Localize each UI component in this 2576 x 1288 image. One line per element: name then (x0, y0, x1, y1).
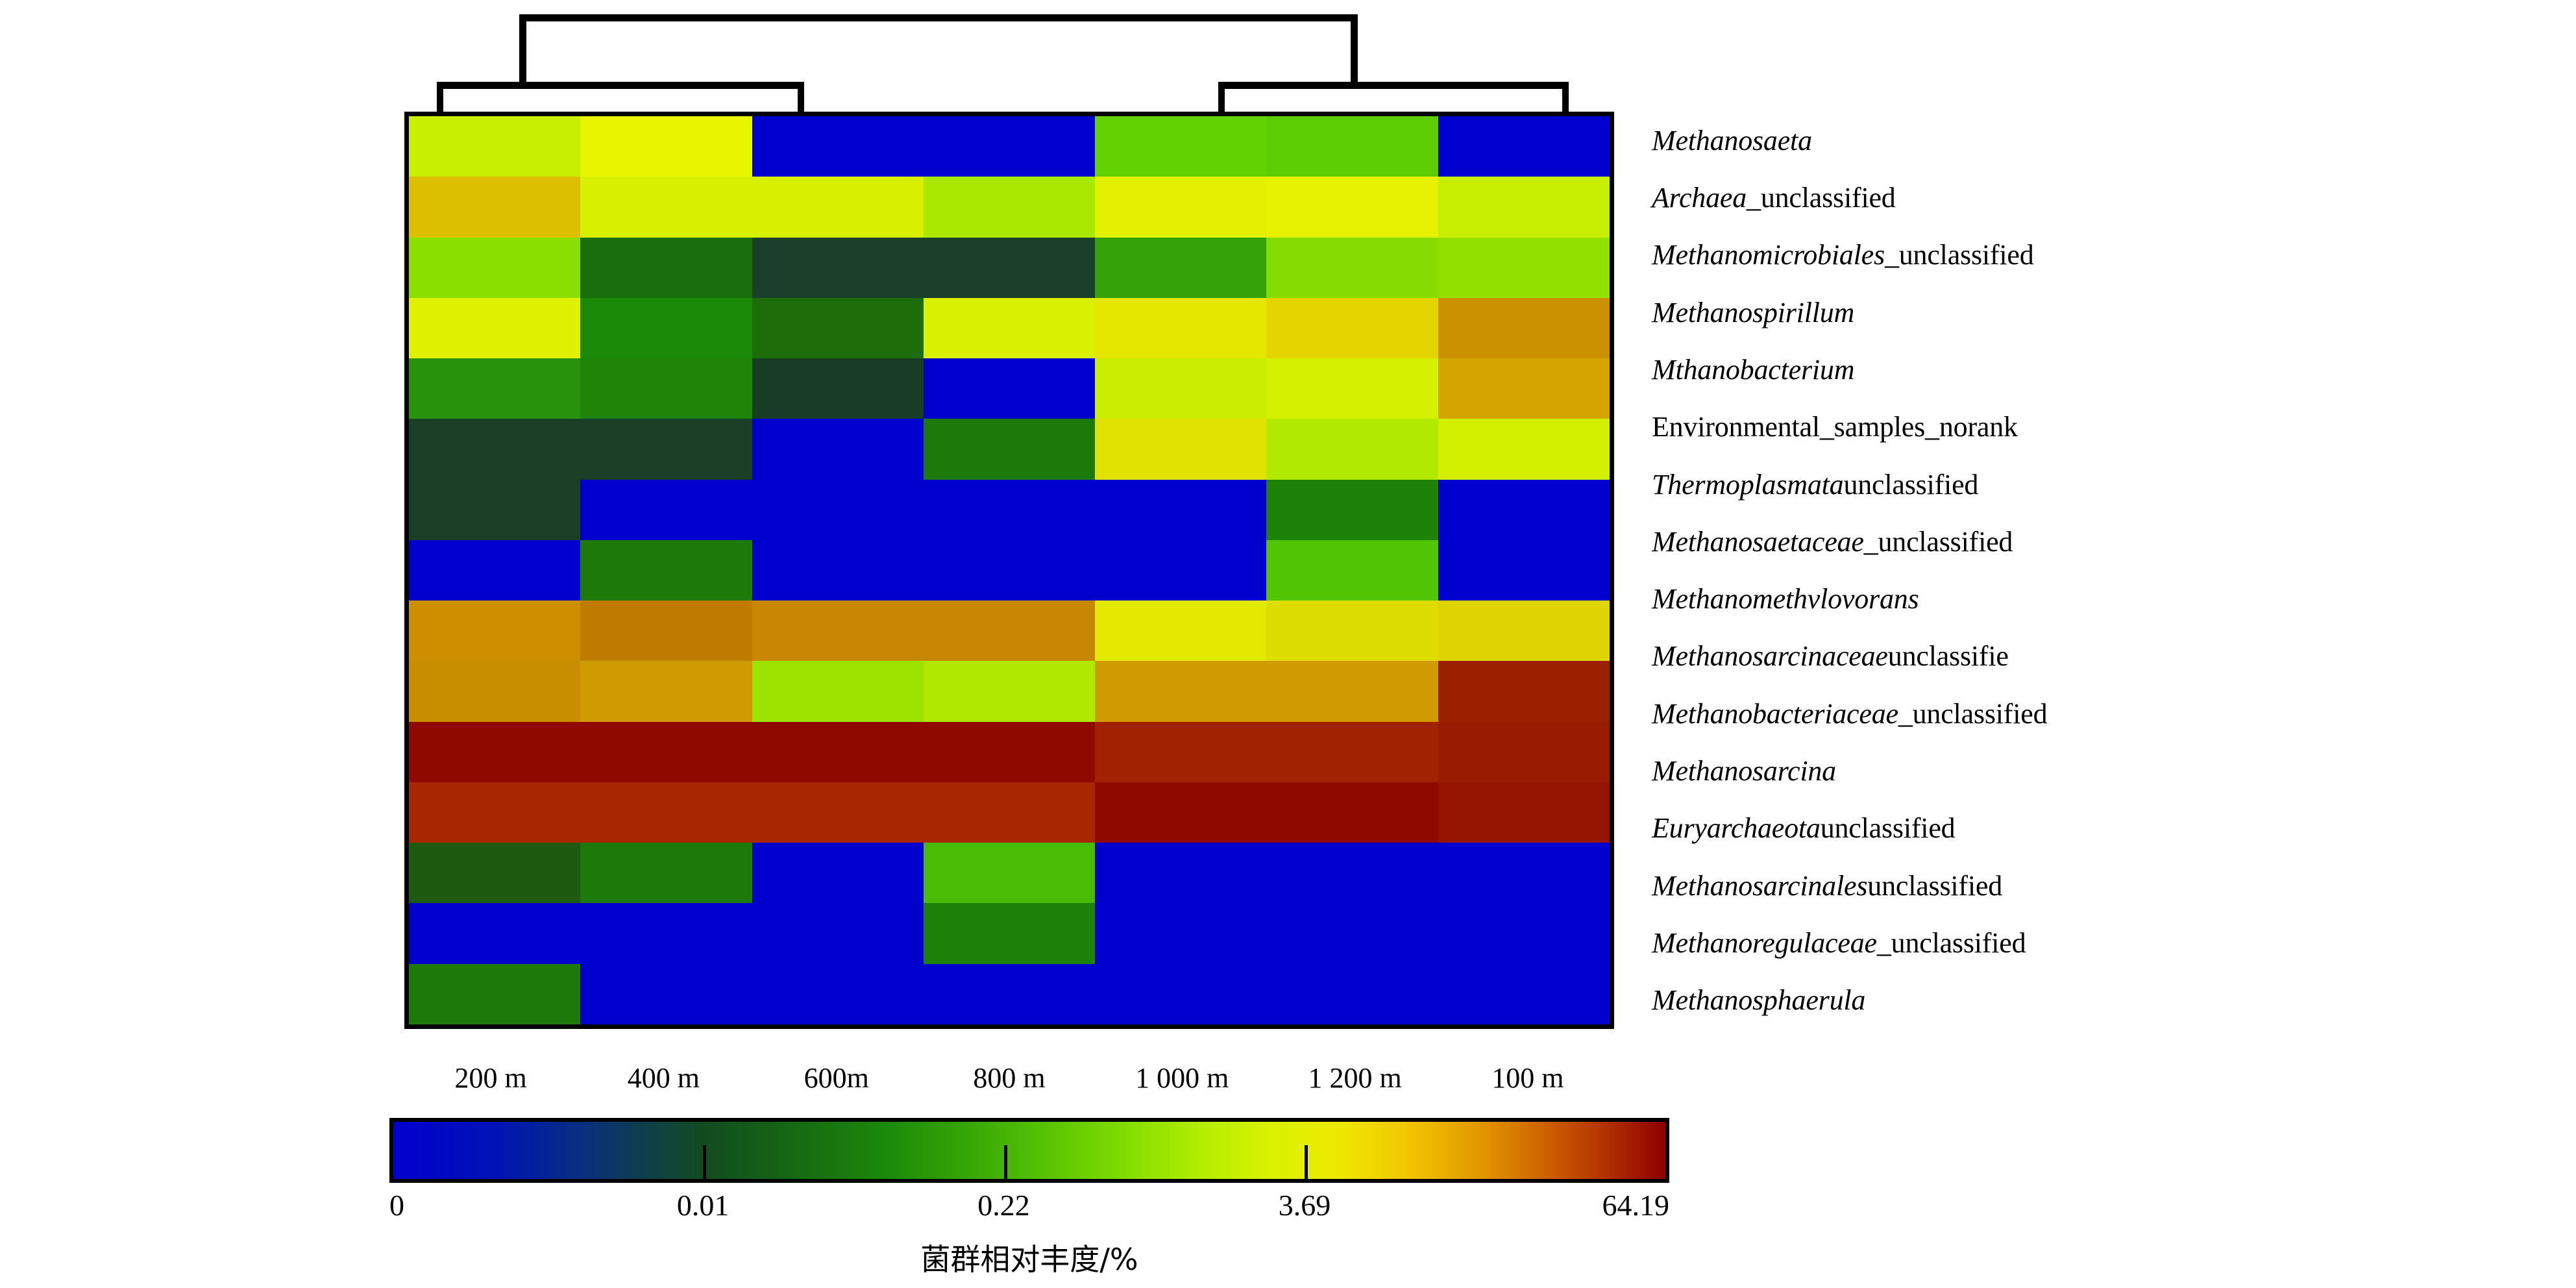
colorbar-tick-mark (703, 1145, 706, 1183)
heatmap-cell (1266, 177, 1438, 237)
row-label-taxon: Methanomicrobiales (1652, 238, 1885, 271)
row-label: Methanosarcina (1652, 742, 2560, 799)
colorbar-tick-label: 3.69 (1279, 1188, 1331, 1222)
row-label-taxon: Methanosarcinales (1652, 869, 1867, 902)
heatmap-cell (1266, 964, 1438, 1024)
row-label-suffix: _unclassified (1864, 525, 2013, 558)
colorbar-gradient (389, 1118, 1669, 1183)
dendrogram-segment (437, 82, 443, 112)
colorbar-tick-labels: 00.010.223.6964.19 (389, 1188, 1669, 1233)
heatmap-cell (752, 903, 924, 963)
heatmap-cell (1095, 903, 1266, 963)
row-label: Methanosarcinales unclassified (1652, 857, 2560, 914)
heatmap-cell (752, 238, 924, 298)
heatmap-cell (1438, 782, 1610, 843)
heatmap-cell (1438, 722, 1610, 782)
row-label: Mthanobacterium (1652, 341, 2560, 398)
row-label-taxon: Methanobacteriaceae (1652, 697, 1898, 730)
column-label: 100 m (1441, 1055, 1614, 1100)
heatmap-cell (1266, 419, 1438, 479)
heatmap-cell (924, 419, 1095, 479)
heatmap-cell (752, 782, 924, 843)
colorbar-tick-label: 0 (389, 1188, 404, 1222)
heatmap-cell (752, 419, 924, 479)
row-label-suffix: Environmental_samples_norank (1652, 410, 2018, 443)
row-label-taxon: Euryarchaeota (1652, 811, 1821, 845)
row-label: Methanoregulaceae_unclassified (1652, 914, 2560, 971)
row-label-taxon: Methanosarcinaceae (1652, 639, 1888, 673)
row-label-list: MethanosaetaArchaea_unclassifiedMethanom… (1652, 112, 2560, 1029)
heatmap-cell (752, 843, 924, 903)
heatmap-cell (1095, 843, 1266, 903)
heatmap-cell (924, 722, 1095, 782)
heatmap-cell (1266, 903, 1438, 963)
column-label: 800 m (923, 1055, 1096, 1100)
row-label-suffix: _unclassified (1885, 238, 2034, 271)
heatmap-cell (409, 540, 580, 601)
dendrogram-segment (519, 14, 1358, 21)
row-label-suffix: _unclassified (1877, 926, 2026, 960)
heatmap-cell (580, 903, 752, 963)
heatmap-cell (924, 843, 1095, 903)
heatmap-cell (1438, 601, 1610, 661)
heatmap-cell (924, 238, 1095, 298)
heatmap-cell (580, 843, 752, 903)
heatmap-cell (409, 722, 580, 782)
row-label: Environmental_samples_norank (1652, 399, 2560, 456)
heatmap-cell (752, 661, 924, 721)
heatmap-cell (1438, 903, 1610, 963)
heatmap-cell (580, 419, 752, 479)
row-label-taxon: Mthanobacterium (1652, 353, 1854, 386)
heatmap-cell (409, 116, 580, 177)
heatmap-cell (1438, 298, 1610, 358)
heatmap-cell (1095, 480, 1266, 540)
heatmap-cell (752, 964, 924, 1024)
heatmap-cell (752, 177, 924, 237)
dendrogram-segment (1218, 82, 1569, 89)
heatmap-cell (409, 601, 580, 661)
heatmap (404, 112, 1614, 1029)
row-label-taxon: Thermoplasmata (1652, 468, 1843, 501)
row-label: Euryarchaeota unclassified (1652, 800, 2560, 857)
row-label-taxon: Methanosarcina (1652, 754, 1836, 787)
row-label: Methanosaeta (1652, 112, 2560, 169)
heatmap-cell (1095, 661, 1266, 721)
heatmap-cell (409, 480, 580, 540)
dendrogram-segment (1351, 14, 1358, 87)
row-label-suffix: _unclassified (1747, 181, 1896, 214)
heatmap-cell (924, 782, 1095, 843)
colorbar-legend: 00.010.223.6964.19 菌群相对丰度/% (389, 1118, 1669, 1183)
heatmap-cell (580, 601, 752, 661)
row-label: Methanosarcinaceae unclassifie (1652, 628, 2560, 685)
row-label: Methanomicrobiales_unclassified (1652, 227, 2560, 284)
colorbar-tick-label: 0.22 (977, 1188, 1030, 1222)
heatmap-cell (1095, 177, 1266, 237)
row-label-taxon: Methanosphaerula (1652, 984, 1865, 1017)
heatmap-cell (924, 964, 1095, 1024)
heatmap-cell (1095, 722, 1266, 782)
heatmap-cell (580, 722, 752, 782)
heatmap-cell (924, 540, 1095, 601)
heatmap-cell (1095, 419, 1266, 479)
heatmap-cell (752, 358, 924, 419)
heatmap-cell (924, 177, 1095, 237)
heatmap-cell (580, 358, 752, 419)
heatmap-cell (409, 782, 580, 843)
heatmap-cell (1266, 358, 1438, 419)
heatmap-cell (1266, 661, 1438, 721)
row-label-taxon: Archaea (1652, 181, 1747, 214)
heatmap-cell (580, 177, 752, 237)
row-label-suffix: unclassified (1867, 869, 2002, 902)
row-label-suffix: _unclassified (1898, 697, 2048, 730)
row-label: Methanobacteriaceae_unclassified (1652, 685, 2560, 742)
heatmap-cell (924, 358, 1095, 419)
dendrogram-segment (519, 14, 526, 87)
row-label-suffix: unclassified (1843, 468, 1978, 501)
row-label: Methanospirillum (1652, 284, 2560, 341)
heatmap-cell (580, 116, 752, 177)
heatmap-cell (580, 238, 752, 298)
heatmap-cell (924, 116, 1095, 177)
heatmap-cell (580, 964, 752, 1024)
heatmap-cell (1095, 782, 1266, 843)
heatmap-cell (1095, 358, 1266, 419)
heatmap-cell (752, 480, 924, 540)
heatmap-cell (924, 661, 1095, 721)
heatmap-cell (580, 661, 752, 721)
column-label-list: 200 m400 m600m800 m1 000 m1 200 m100 m (404, 1055, 1614, 1100)
heatmap-cell (409, 358, 580, 419)
heatmap-cell (1095, 540, 1266, 601)
heatmap-cell (409, 661, 580, 721)
heatmap-cell (1095, 964, 1266, 1024)
colorbar-tick-label: 64.19 (1602, 1188, 1670, 1222)
heatmap-cell (409, 964, 580, 1024)
row-label-taxon: Methanospirillum (1652, 296, 1854, 329)
row-label-taxon: Methanosaeta (1652, 124, 1812, 157)
row-label-suffix: unclassified (1821, 811, 1956, 845)
heatmap-cell (1438, 116, 1610, 177)
column-label: 1 000 m (1096, 1055, 1268, 1100)
heatmap-cell (409, 843, 580, 903)
heatmap-cell (752, 540, 924, 601)
heatmap-cell (1095, 298, 1266, 358)
heatmap-cell (752, 298, 924, 358)
heatmap-cell (409, 238, 580, 298)
colorbar-tick-label: 0.01 (677, 1188, 730, 1222)
colorbar-axis-title: 菌群相对丰度/% (389, 1236, 1669, 1279)
row-label-taxon: Methanoregulaceae (1652, 926, 1877, 960)
heatmap-cell (409, 903, 580, 963)
heatmap-cell (1095, 116, 1266, 177)
heatmap-cell (1266, 480, 1438, 540)
heatmap-cell (1266, 722, 1438, 782)
heatmap-cell (580, 480, 752, 540)
heatmap-cell (1438, 661, 1610, 721)
heatmap-cell (924, 903, 1095, 963)
heatmap-cell (1438, 480, 1610, 540)
heatmap-cell (1438, 964, 1610, 1024)
heatmap-cell (1438, 843, 1610, 903)
heatmap-cell (1266, 116, 1438, 177)
heatmap-cell (1266, 843, 1438, 903)
heatmap-cell (1438, 358, 1610, 419)
row-label-suffix: unclassifie (1888, 639, 2009, 673)
dendrogram-segment (437, 82, 804, 89)
heatmap-grid (409, 116, 1610, 1024)
heatmap-cell (1438, 177, 1610, 237)
heatmap-cell (409, 177, 580, 237)
heatmap-cell (1266, 298, 1438, 358)
row-label: Thermoplasmata unclassified (1652, 456, 2560, 513)
heatmap-cell (1266, 601, 1438, 661)
heatmap-cell (1438, 419, 1610, 479)
colorbar-tick-mark (1305, 1145, 1308, 1183)
heatmap-cell (409, 419, 580, 479)
heatmap-cell (1266, 782, 1438, 843)
heatmap-cell (409, 298, 580, 358)
column-label: 600m (750, 1055, 923, 1100)
heatmap-cell (580, 298, 752, 358)
row-label: Methanosaetaceae_unclassified (1652, 513, 2560, 570)
heatmap-cell (752, 722, 924, 782)
heatmap-cell (1095, 238, 1266, 298)
row-label: Archaea_unclassified (1652, 169, 2560, 226)
dendrogram-segment (1562, 82, 1569, 112)
row-label-taxon: Methanomethvlovorans (1652, 582, 1919, 615)
heatmap-cell (1266, 238, 1438, 298)
heatmap-cell (924, 298, 1095, 358)
heatmap-cell (580, 782, 752, 843)
row-label: Methanomethvlovorans (1652, 571, 2560, 628)
heatmap-cell (1095, 601, 1266, 661)
heatmap-cell (752, 601, 924, 661)
heatmap-cell (580, 540, 752, 601)
heatmap-cell (924, 480, 1095, 540)
heatmap-cell (924, 601, 1095, 661)
heatmap-cell (1438, 540, 1610, 601)
row-label-taxon: Methanosaetaceae (1652, 525, 1864, 558)
row-label: Methanosphaerula (1652, 972, 2560, 1029)
column-label: 1 200 m (1268, 1055, 1441, 1100)
heatmap-cell (1266, 540, 1438, 601)
column-label: 400 m (577, 1055, 750, 1100)
column-label: 200 m (404, 1055, 577, 1100)
heatmap-cell (1438, 238, 1610, 298)
heatmap-cell (752, 116, 924, 177)
colorbar-tick-mark (1004, 1145, 1007, 1183)
column-dendrogram (0, 0, 2576, 112)
